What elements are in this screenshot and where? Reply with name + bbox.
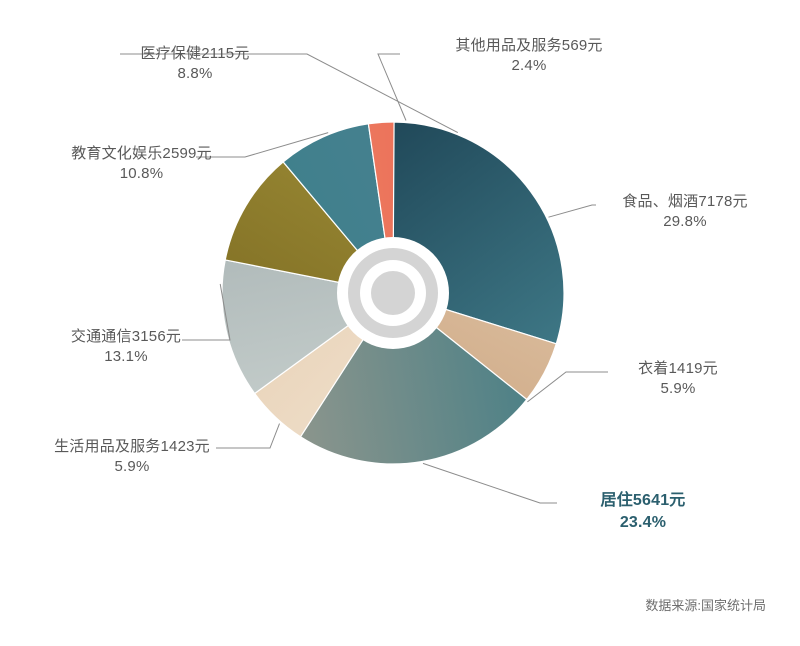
slice-label-education-culture-entertainment[interactable]: 教育文化娱乐2599元 10.8% bbox=[34, 144, 249, 185]
slice-label-name: 医疗保健2115元 bbox=[95, 44, 295, 64]
slice-label-percent: 8.8% bbox=[95, 64, 295, 84]
slice-label-name: 生活用品及服务1423元 bbox=[22, 437, 242, 457]
source-note: 数据来源:国家统计局 bbox=[645, 595, 766, 614]
slice-label-name: 教育文化娱乐2599元 bbox=[34, 144, 249, 164]
slice-label-name: 食品、烟酒7178元 bbox=[600, 192, 770, 212]
pie-chart-svg bbox=[0, 0, 800, 646]
slice-label-percent: 5.9% bbox=[22, 457, 242, 477]
center-hub bbox=[337, 237, 449, 349]
slice-label-healthcare[interactable]: 医疗保健2115元 8.8% bbox=[95, 44, 295, 85]
slice-label-other-goods-services[interactable]: 其他用品及服务569元 2.4% bbox=[404, 36, 654, 77]
slice-label-percent: 2.4% bbox=[404, 56, 654, 76]
slice-label-name: 交通通信3156元 bbox=[36, 327, 216, 347]
leader-line-food-tobacco-liquor bbox=[549, 205, 597, 217]
pie-chart-root: 其他用品及服务569元 2.4% 医疗保健2115元 8.8% 教育文化娱乐25… bbox=[0, 0, 800, 646]
slice-label-clothing[interactable]: 衣着1419元 5.9% bbox=[613, 359, 743, 400]
slice-label-name: 其他用品及服务569元 bbox=[404, 36, 654, 56]
slice-label-household-goods-services[interactable]: 生活用品及服务1423元 5.9% bbox=[22, 437, 242, 478]
slice-label-transport-communication[interactable]: 交通通信3156元 13.1% bbox=[36, 327, 216, 368]
leader-line-other-goods-services bbox=[378, 54, 406, 121]
slice-label-percent: 23.4% bbox=[563, 512, 723, 534]
slice-label-percent: 5.9% bbox=[613, 379, 743, 399]
slice-label-name: 衣着1419元 bbox=[613, 359, 743, 379]
slice-label-food-tobacco-liquor[interactable]: 食品、烟酒7178元 29.8% bbox=[600, 192, 770, 233]
slice-label-name: 居住5641元 bbox=[563, 490, 723, 512]
slice-label-housing[interactable]: 居住5641元 23.4% bbox=[563, 490, 723, 533]
leader-line-housing bbox=[423, 463, 557, 503]
slice-label-percent: 10.8% bbox=[34, 164, 249, 184]
slice-label-percent: 29.8% bbox=[600, 212, 770, 232]
slice-label-percent: 13.1% bbox=[36, 347, 216, 367]
